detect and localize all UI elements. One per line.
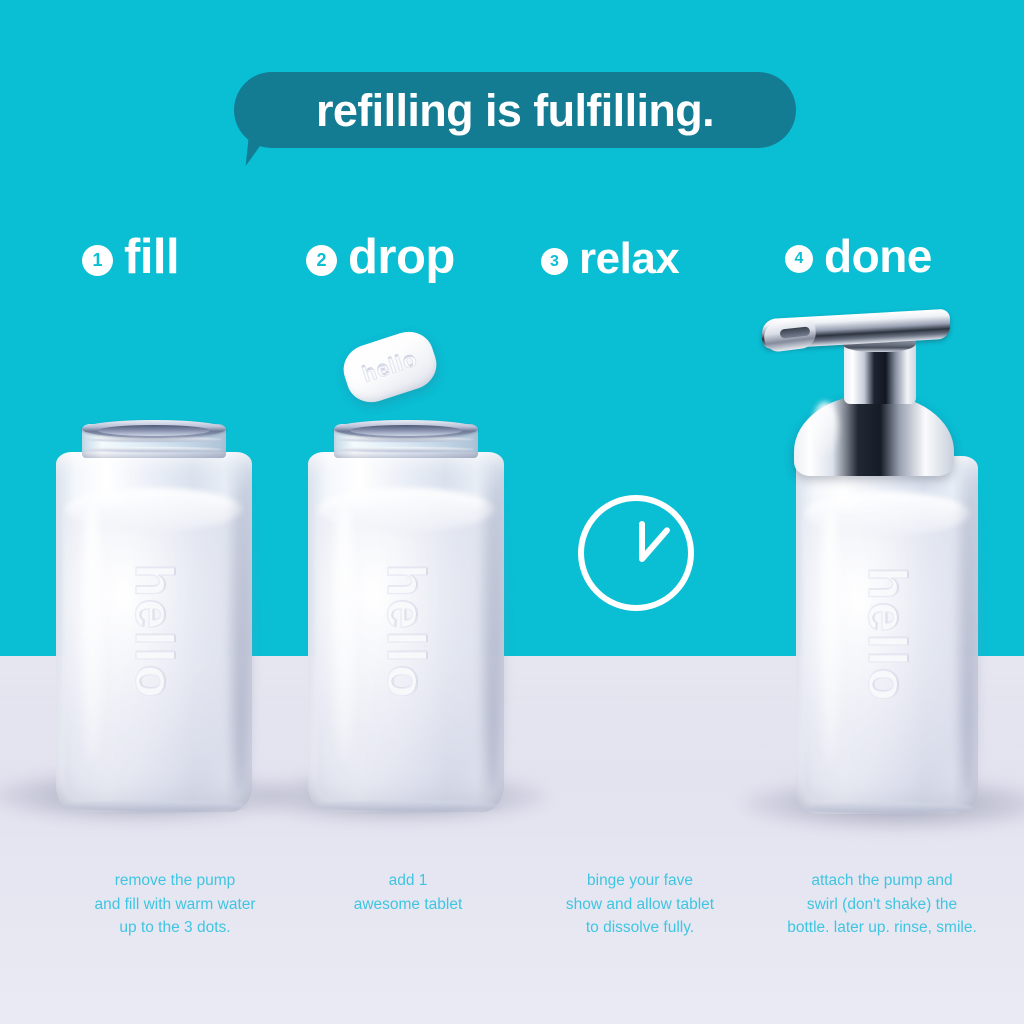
neck-opening [98,425,210,436]
step-headings: 1 fill 2 drop 3 relax 4 done [0,233,1024,309]
headline-speech-bubble: refilling is fulfilling. [234,72,796,148]
bottle-neck-1 [82,424,226,458]
step-caption-4: attach the pump andswirl (don't shake) t… [742,869,1022,940]
pump-dome-highlight [812,402,838,456]
tablet-emboss-hello: hello [359,346,421,388]
bottle-highlight [81,502,103,761]
bottle-step-1: hello [56,452,252,812]
chrome-foam-pump [758,306,974,478]
bottle-edge-shading [232,481,250,791]
step-word-4: done [824,233,932,279]
step-number-badge-3: 3 [541,248,568,275]
bottle-neck-2 [334,424,478,458]
bottle-step-4: hello [796,456,978,814]
bottle-base [60,800,248,812]
step-caption-3: binge your faveshow and allow tabletto d… [513,869,767,940]
infographic-canvas: refilling is fulfilling. 1 fill 2 drop 3… [0,0,1024,1024]
step-word-1: fill [124,233,179,282]
step-number-badge-2: 2 [306,245,337,276]
bottle-step-2: hello [308,452,504,812]
bottle-emboss-hello: hello [856,567,918,703]
bottle-emboss-hello: hello [123,564,185,700]
bottle-emboss-hello: hello [375,564,437,700]
step-heading-relax: 3 relax [541,237,679,281]
clock-icon [578,495,694,611]
step-word-3: relax [579,237,679,281]
neck-thread [86,447,221,452]
bottle-base [312,800,500,812]
bottle-edge-shading [484,481,502,791]
bottle-highlight [820,506,840,764]
neck-thread [338,447,473,452]
step-number-badge-4: 4 [785,245,813,273]
step-heading-done: 4 done [785,233,932,279]
step-caption-1: remove the pumpand fill with warm wateru… [18,869,332,940]
step-word-2: drop [348,233,455,282]
bottle-edge-shading [960,485,976,793]
headline-text: refilling is fulfilling. [316,88,714,133]
step-heading-drop: 2 drop [306,233,455,282]
step-heading-fill: 1 fill [82,233,179,282]
bottle-base [800,802,975,814]
bottle-highlight [333,502,355,761]
neck-opening [350,425,462,436]
step-caption-2: add 1awesome tablet [296,869,520,916]
step-number-badge-1: 1 [82,245,113,276]
